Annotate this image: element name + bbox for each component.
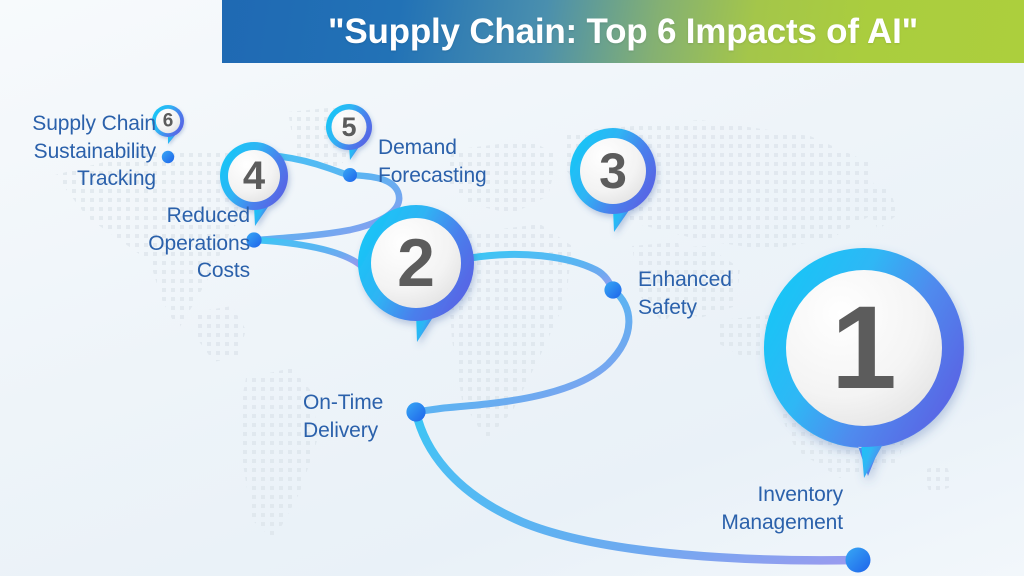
dot-demand [343,168,357,182]
node-number-1: 1 [831,282,897,414]
dot-inventory [846,548,871,573]
label-enhanced-safety: Enhanced Safety [638,266,768,321]
node-marker-1[interactable]: 1 [760,244,970,484]
node-number-3: 3 [599,143,627,199]
label-inventory-management: Inventory Management [688,481,843,536]
label-on-time-delivery: On-Time Delivery [303,389,403,444]
title-banner: "Supply Chain: Top 6 Impacts of AI" [222,0,1024,63]
dot-sustainability [162,151,174,163]
node-number-6: 6 [163,111,174,132]
node-marker-2[interactable]: 2 [355,202,481,348]
dot-safety [604,281,621,298]
node-number-5: 5 [341,112,356,142]
node-marker-5[interactable]: 5 [324,102,380,166]
label-supply-chain-sustainability-tracking: Supply Chain Sustainability Tracking [6,110,156,193]
page-title: "Supply Chain: Top 6 Impacts of AI" [328,14,918,49]
node-marker-3[interactable]: 3 [568,126,664,238]
dot-ontime [406,402,425,421]
node-number-4: 4 [243,154,266,198]
infographic-canvas: 1 [0,0,1024,576]
node-number-2: 2 [397,225,435,301]
label-reduced-operations-costs: Reduced Operations Costs [122,202,250,285]
node-marker-6[interactable]: 6 [150,103,190,149]
label-demand-forecasting: Demand Forecasting [378,134,508,189]
